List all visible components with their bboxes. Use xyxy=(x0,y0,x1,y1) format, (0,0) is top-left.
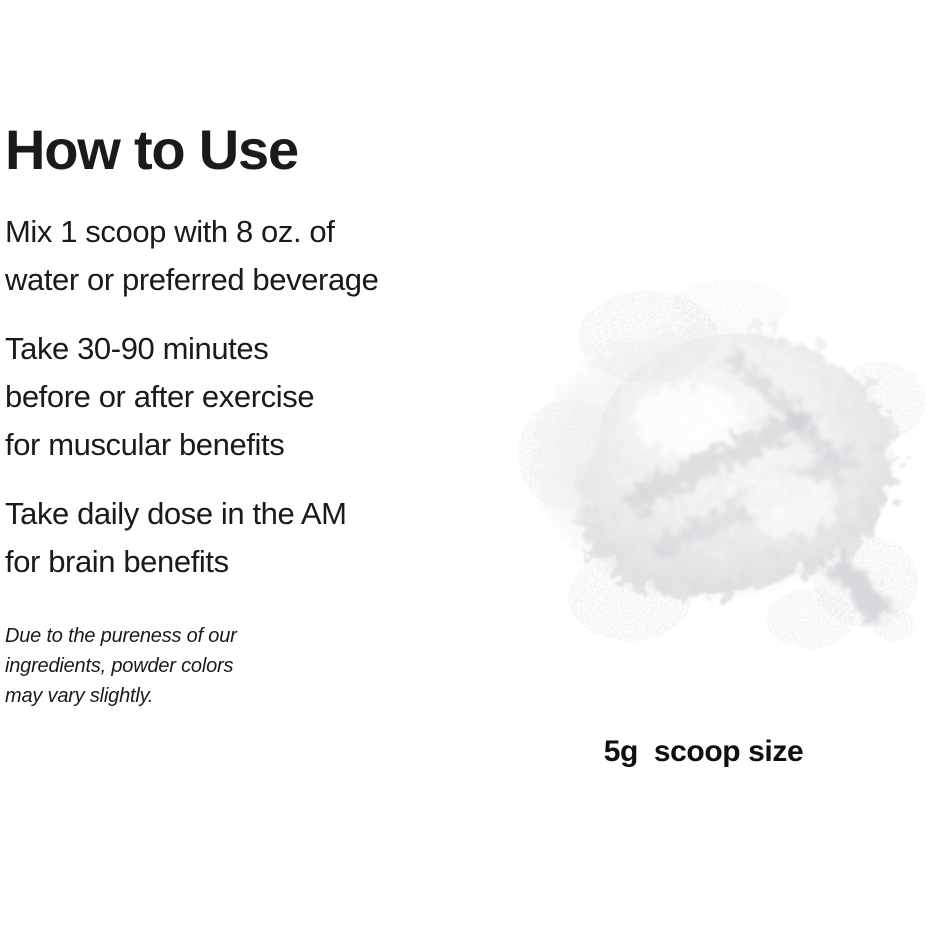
instruction-daily: Take daily dose in the AM for brain bene… xyxy=(5,490,475,586)
how-to-use-panel: How to Use Mix 1 scoop with 8 oz. of wat… xyxy=(0,0,937,937)
page-title: How to Use xyxy=(5,118,475,182)
powder-pile-image xyxy=(480,205,935,660)
powder-pile-illustration xyxy=(480,205,935,660)
instruction-list: Mix 1 scoop with 8 oz. of water or prefe… xyxy=(5,208,475,586)
powder-color-disclaimer: Due to the pureness of our ingredients, … xyxy=(5,621,475,711)
instruction-mix: Mix 1 scoop with 8 oz. of water or prefe… xyxy=(5,208,475,304)
instruction-timing: Take 30-90 minutes before or after exerc… xyxy=(5,325,475,469)
product-shot-column: 5g scoop size xyxy=(470,0,937,937)
instructions-column: How to Use Mix 1 scoop with 8 oz. of wat… xyxy=(5,118,475,711)
scoop-size-caption: 5g scoop size xyxy=(470,735,937,769)
